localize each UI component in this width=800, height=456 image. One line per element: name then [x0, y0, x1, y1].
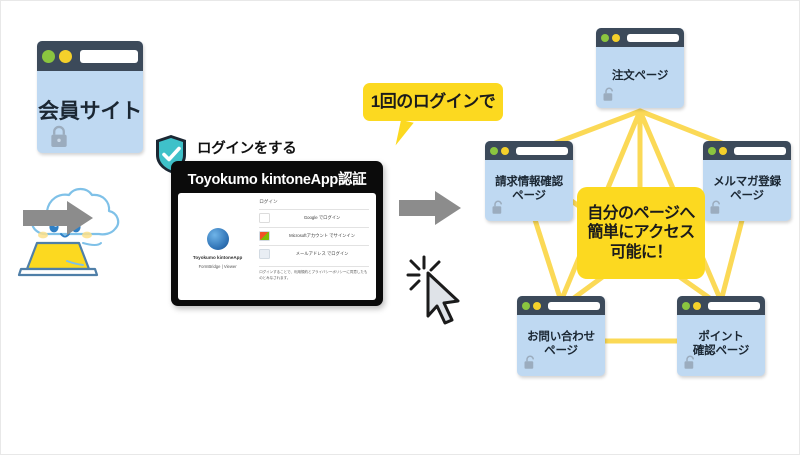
url-bar[interactable]: [548, 302, 600, 310]
click-cursor-icon: [406, 253, 468, 325]
toyokumo-logo-icon: [207, 228, 229, 250]
arrow-right-icon-2: [399, 189, 461, 227]
page-node-label: ポイント確認ページ: [693, 331, 749, 358]
yellow-dot-icon: [612, 34, 620, 42]
page-node-label: 請求情報確認ページ: [495, 176, 563, 203]
url-bar[interactable]: [80, 50, 138, 63]
window-body: お問い合わせページ: [517, 315, 605, 374]
login-option-google[interactable]: Google でログイン: [259, 209, 369, 227]
member-site-label: 会員サイト: [38, 100, 142, 125]
login-option-label: メールアドレス でログイン: [275, 251, 369, 257]
login-option-label: Google でログイン: [275, 215, 369, 221]
login-option-email[interactable]: メールアドレス でログイン: [259, 245, 369, 263]
url-bar[interactable]: [734, 147, 786, 155]
green-dot-icon: [682, 302, 690, 310]
lock-open-icon: [602, 87, 615, 102]
page-node-contact[interactable]: お問い合わせページ: [517, 296, 605, 376]
window-body: メルマガ登録ページ: [703, 160, 791, 219]
arrow-right-icon-1: [23, 199, 95, 237]
login-column: ログイン Google でログイン Microsoftアカウント でサインイン …: [257, 193, 376, 300]
login-option-microsoft[interactable]: Microsoftアカウント でサインイン: [259, 227, 369, 245]
browser-titlebar: [677, 296, 765, 315]
window-body: 請求情報確認ページ: [485, 160, 573, 219]
green-dot-icon: [42, 50, 55, 63]
page-node-label: お問い合わせページ: [527, 331, 595, 358]
browser-titlebar: [37, 41, 143, 71]
page-node-points[interactable]: ポイント確認ページ: [677, 296, 765, 376]
center-callout-text: 自分のページへ簡単にアクセス可能に！: [587, 204, 694, 263]
browser-titlebar: [703, 141, 791, 160]
green-dot-icon: [490, 147, 498, 155]
green-dot-icon: [522, 302, 530, 310]
page-node-order[interactable]: 注文ページ: [596, 28, 684, 108]
page-node-invoice[interactable]: 請求情報確認ページ: [485, 141, 573, 221]
green-dot-icon: [601, 34, 609, 42]
browser-titlebar: [517, 296, 605, 315]
legal-text: ログインすることで、利用規約とプライバシーポリシーに同意したものとみなされます。: [259, 266, 369, 281]
lock-open-icon: [709, 200, 722, 215]
page-node-mailmagazine[interactable]: メルマガ登録ページ: [703, 141, 791, 221]
auth-dialog[interactable]: Toyokumo kintoneApp認証 Toyokumo kintoneAp…: [171, 161, 383, 306]
legal-sentence: ログインすることで、利用規約とプライバシーポリシーに同意したものとみなされます。: [259, 270, 367, 279]
login-action-caption: ログインをする: [197, 137, 296, 158]
yellow-dot-icon: [59, 50, 72, 63]
speech-bubble: 1回のログインで: [363, 83, 503, 121]
microsoft-icon: [259, 231, 270, 241]
page-node-label: メルマガ登録ページ: [713, 176, 781, 203]
lock-open-icon: [523, 355, 536, 370]
url-bar[interactable]: [708, 302, 760, 310]
page-node-label: 注文ページ: [612, 70, 668, 84]
window-body: 注文ページ: [596, 47, 684, 106]
url-bar[interactable]: [516, 147, 568, 155]
yellow-dot-icon: [719, 147, 727, 155]
url-bar[interactable]: [627, 34, 679, 42]
window-body: 会員サイト: [37, 71, 143, 153]
yellow-dot-icon: [693, 302, 701, 310]
brand-column: Toyokumo kintoneApp FormBridge | Viewer: [178, 193, 257, 300]
lock-closed-icon: [49, 125, 69, 148]
lock-open-icon: [491, 200, 504, 215]
login-option-label: Microsoftアカウント でサインイン: [275, 233, 369, 239]
auth-dialog-title: Toyokumo kintoneApp認証: [171, 161, 383, 195]
window-body: ポイント確認ページ: [677, 315, 765, 374]
auth-dialog-card: Toyokumo kintoneApp FormBridge | Viewer …: [178, 193, 376, 300]
yellow-dot-icon: [501, 147, 509, 155]
browser-titlebar: [596, 28, 684, 47]
lock-open-icon: [683, 355, 696, 370]
speech-bubble-text: 1回のログインで: [371, 92, 495, 113]
browser-titlebar: [485, 141, 573, 160]
google-icon: [259, 213, 270, 223]
center-callout-badge: 自分のページへ簡単にアクセス可能に！: [577, 187, 705, 279]
brand-name: Toyokumo kintoneApp: [193, 255, 242, 262]
yellow-dot-icon: [533, 302, 541, 310]
green-dot-icon: [708, 147, 716, 155]
member-site-window[interactable]: 会員サイト: [37, 41, 143, 153]
diagram-canvas: 会員サイト ログインをする Toyokumo kinto: [0, 0, 800, 455]
login-heading: ログイン: [259, 199, 369, 205]
mail-icon: [259, 249, 270, 259]
brand-products: FormBridge | Viewer: [199, 264, 237, 269]
